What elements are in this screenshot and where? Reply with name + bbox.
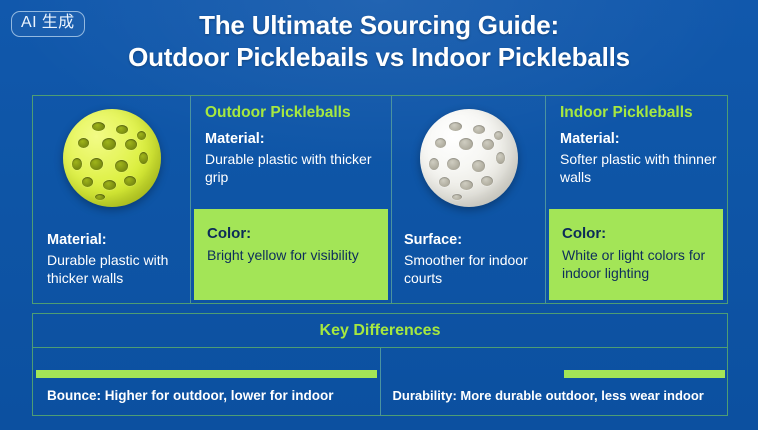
bounce-accent-bar: [36, 370, 377, 378]
outdoor-color-label: Color:: [207, 224, 376, 244]
outdoor-image-caption-label: Material:: [47, 231, 180, 250]
outdoor-color-text: Bright yellow for visibility: [207, 247, 359, 263]
indoor-material-label: Material:: [560, 130, 718, 149]
indoor-material-block: Material: Softer plastic with thinner wa…: [560, 130, 718, 186]
outdoor-material-label: Material:: [205, 130, 383, 149]
indoor-ball-holes: [420, 109, 518, 207]
key-difference-item-bounce: Bounce: Higher for outdoor, lower for in…: [33, 348, 380, 416]
title-line-1: The Ultimate Sourcing Guide:: [199, 10, 559, 40]
indoor-image-caption-text: Smoother for indoor courts: [404, 252, 528, 286]
column-outdoor-image: Material: Durable plastic with thicker w…: [33, 96, 190, 303]
key-differences-card: Key Differences Bounce: Higher for outdo…: [32, 313, 728, 416]
indoor-image-caption-label: Surface:: [404, 231, 535, 250]
key-differences-heading: Key Differences: [33, 314, 727, 348]
outdoor-image-caption: Material: Durable plastic with thicker w…: [47, 231, 180, 287]
outdoor-pickleball-icon: [63, 109, 161, 207]
indoor-ball-wrap: [392, 104, 545, 212]
outdoor-column-heading: Outdoor Pickleballs: [205, 104, 385, 122]
outdoor-material-block: Material: Durable plastic with thicker g…: [205, 130, 383, 186]
indoor-image-caption: Surface: Smoother for indoor courts: [404, 231, 535, 287]
key-differences-row: Bounce: Higher for outdoor, lower for in…: [33, 348, 727, 416]
outdoor-image-caption-text: Durable plastic with thicker walls: [47, 252, 168, 286]
page-title: The Ultimate Sourcing Guide: Outdoor Pic…: [0, 10, 758, 74]
title-line-2: Outdoor Picklebails vs Indoor Pickleball…: [0, 42, 758, 74]
column-outdoor-text: Outdoor Pickleballs Material: Durable pl…: [190, 96, 391, 303]
column-indoor-text: Indoor Pickleballs Material: Softer plas…: [545, 96, 726, 303]
outdoor-material-text: Durable plastic with thicker grip: [205, 151, 372, 185]
column-indoor-image: Surface: Smoother for indoor courts: [391, 96, 545, 303]
indoor-color-label: Color:: [562, 224, 711, 244]
bounce-label: Bounce: Higher for outdoor, lower for in…: [47, 388, 372, 403]
indoor-column-heading: Indoor Pickleballs: [560, 104, 720, 122]
indoor-material-text: Softer plastic with thinner walls: [560, 151, 716, 185]
durability-label: Durability: More durable outdoor, less w…: [393, 388, 720, 403]
indoor-color-text: White or light colors for indoor lightin…: [562, 247, 705, 281]
outdoor-color-block: Color: Bright yellow for visibility: [194, 209, 388, 300]
comparison-card: Material: Durable plastic with thicker w…: [32, 95, 728, 304]
key-difference-item-durability: Durability: More durable outdoor, less w…: [380, 348, 728, 416]
indoor-pickleball-icon: [420, 109, 518, 207]
outdoor-ball-holes: [63, 109, 161, 207]
outdoor-ball-wrap: [33, 104, 190, 212]
durability-accent-bar: [564, 370, 725, 378]
indoor-color-block: Color: White or light colors for indoor …: [549, 209, 723, 300]
